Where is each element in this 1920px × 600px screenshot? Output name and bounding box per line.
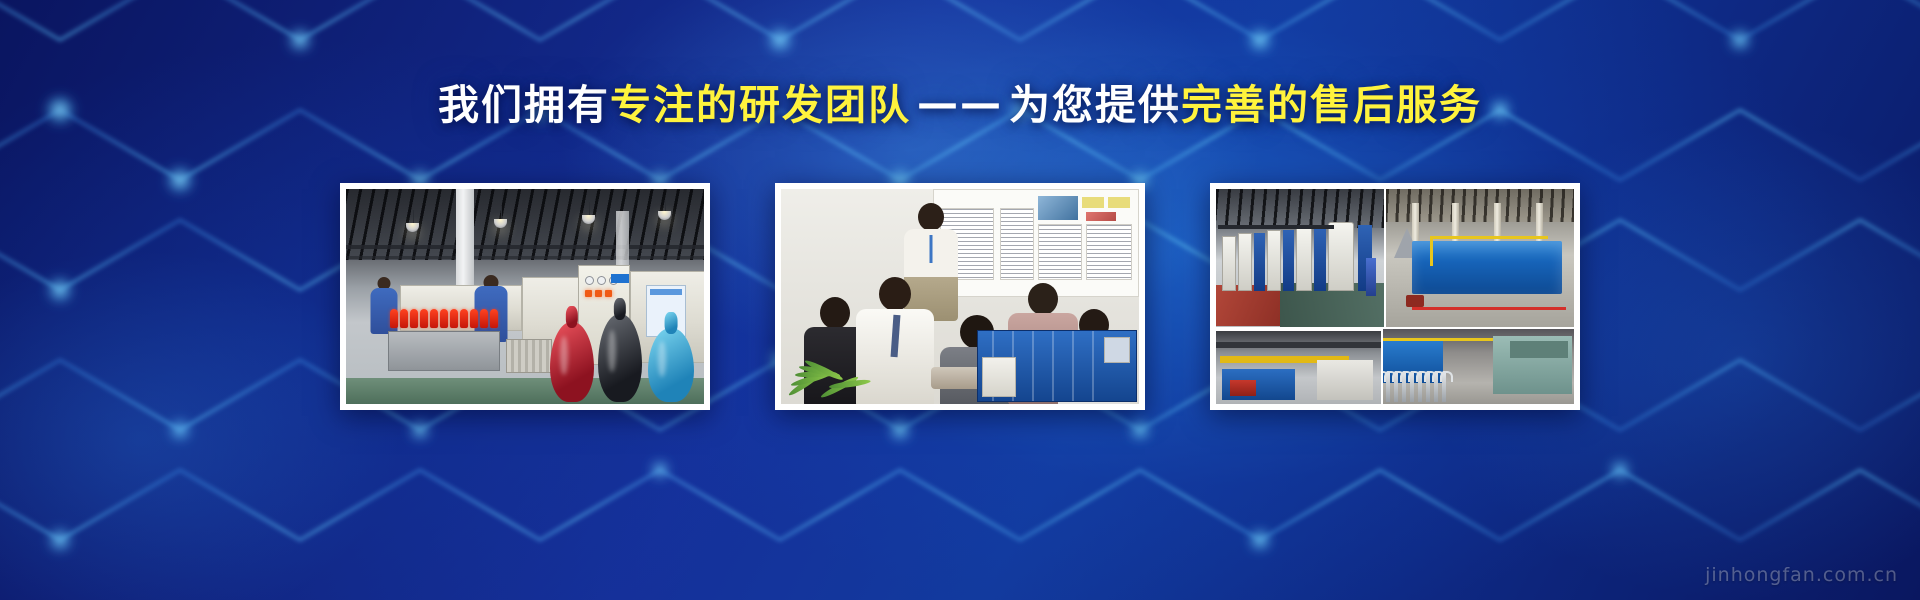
palm-leaf-foreground — [785, 344, 895, 404]
photo-team-meeting-image — [781, 189, 1139, 404]
vase-blue — [648, 328, 694, 402]
banner-stage: 我们拥有专注的研发团队——为您提供完善的售后服务 — [0, 0, 1920, 600]
composite-tile-blue-oven — [1386, 189, 1574, 327]
site-watermark: jinhongfan.com.cn — [1705, 564, 1898, 586]
photo-panel-equipment-composite[interactable] — [1210, 183, 1580, 410]
composite-tile-crane-bay-strip — [1216, 329, 1383, 404]
headline-dash: —— — [911, 78, 1009, 129]
headline-segment-yellow-1: 专注的研发团队 — [610, 81, 911, 129]
vase-black — [598, 314, 642, 402]
photo-production-line-image — [346, 189, 704, 404]
photo-panel-production-line[interactable] — [340, 183, 710, 410]
banner-headline: 我们拥有专注的研发团队——为您提供完善的售后服务 — [0, 80, 1920, 131]
composite-tile-plating-hall — [1216, 189, 1384, 327]
photo-equipment-composite-image — [1216, 189, 1574, 404]
vase-red — [550, 322, 594, 402]
inset-equipment-photo — [977, 330, 1137, 402]
headline-segment-white-1: 我们拥有 — [438, 81, 610, 129]
headline-segment-yellow-2: 完善的售后服务 — [1181, 81, 1482, 129]
product-vases-overlay — [550, 298, 700, 402]
photo-panel-row — [0, 183, 1920, 410]
photo-panel-team-meeting[interactable] — [775, 183, 1145, 410]
headline-segment-white-2: 为您提供 — [1009, 81, 1181, 129]
display-board — [933, 189, 1139, 297]
